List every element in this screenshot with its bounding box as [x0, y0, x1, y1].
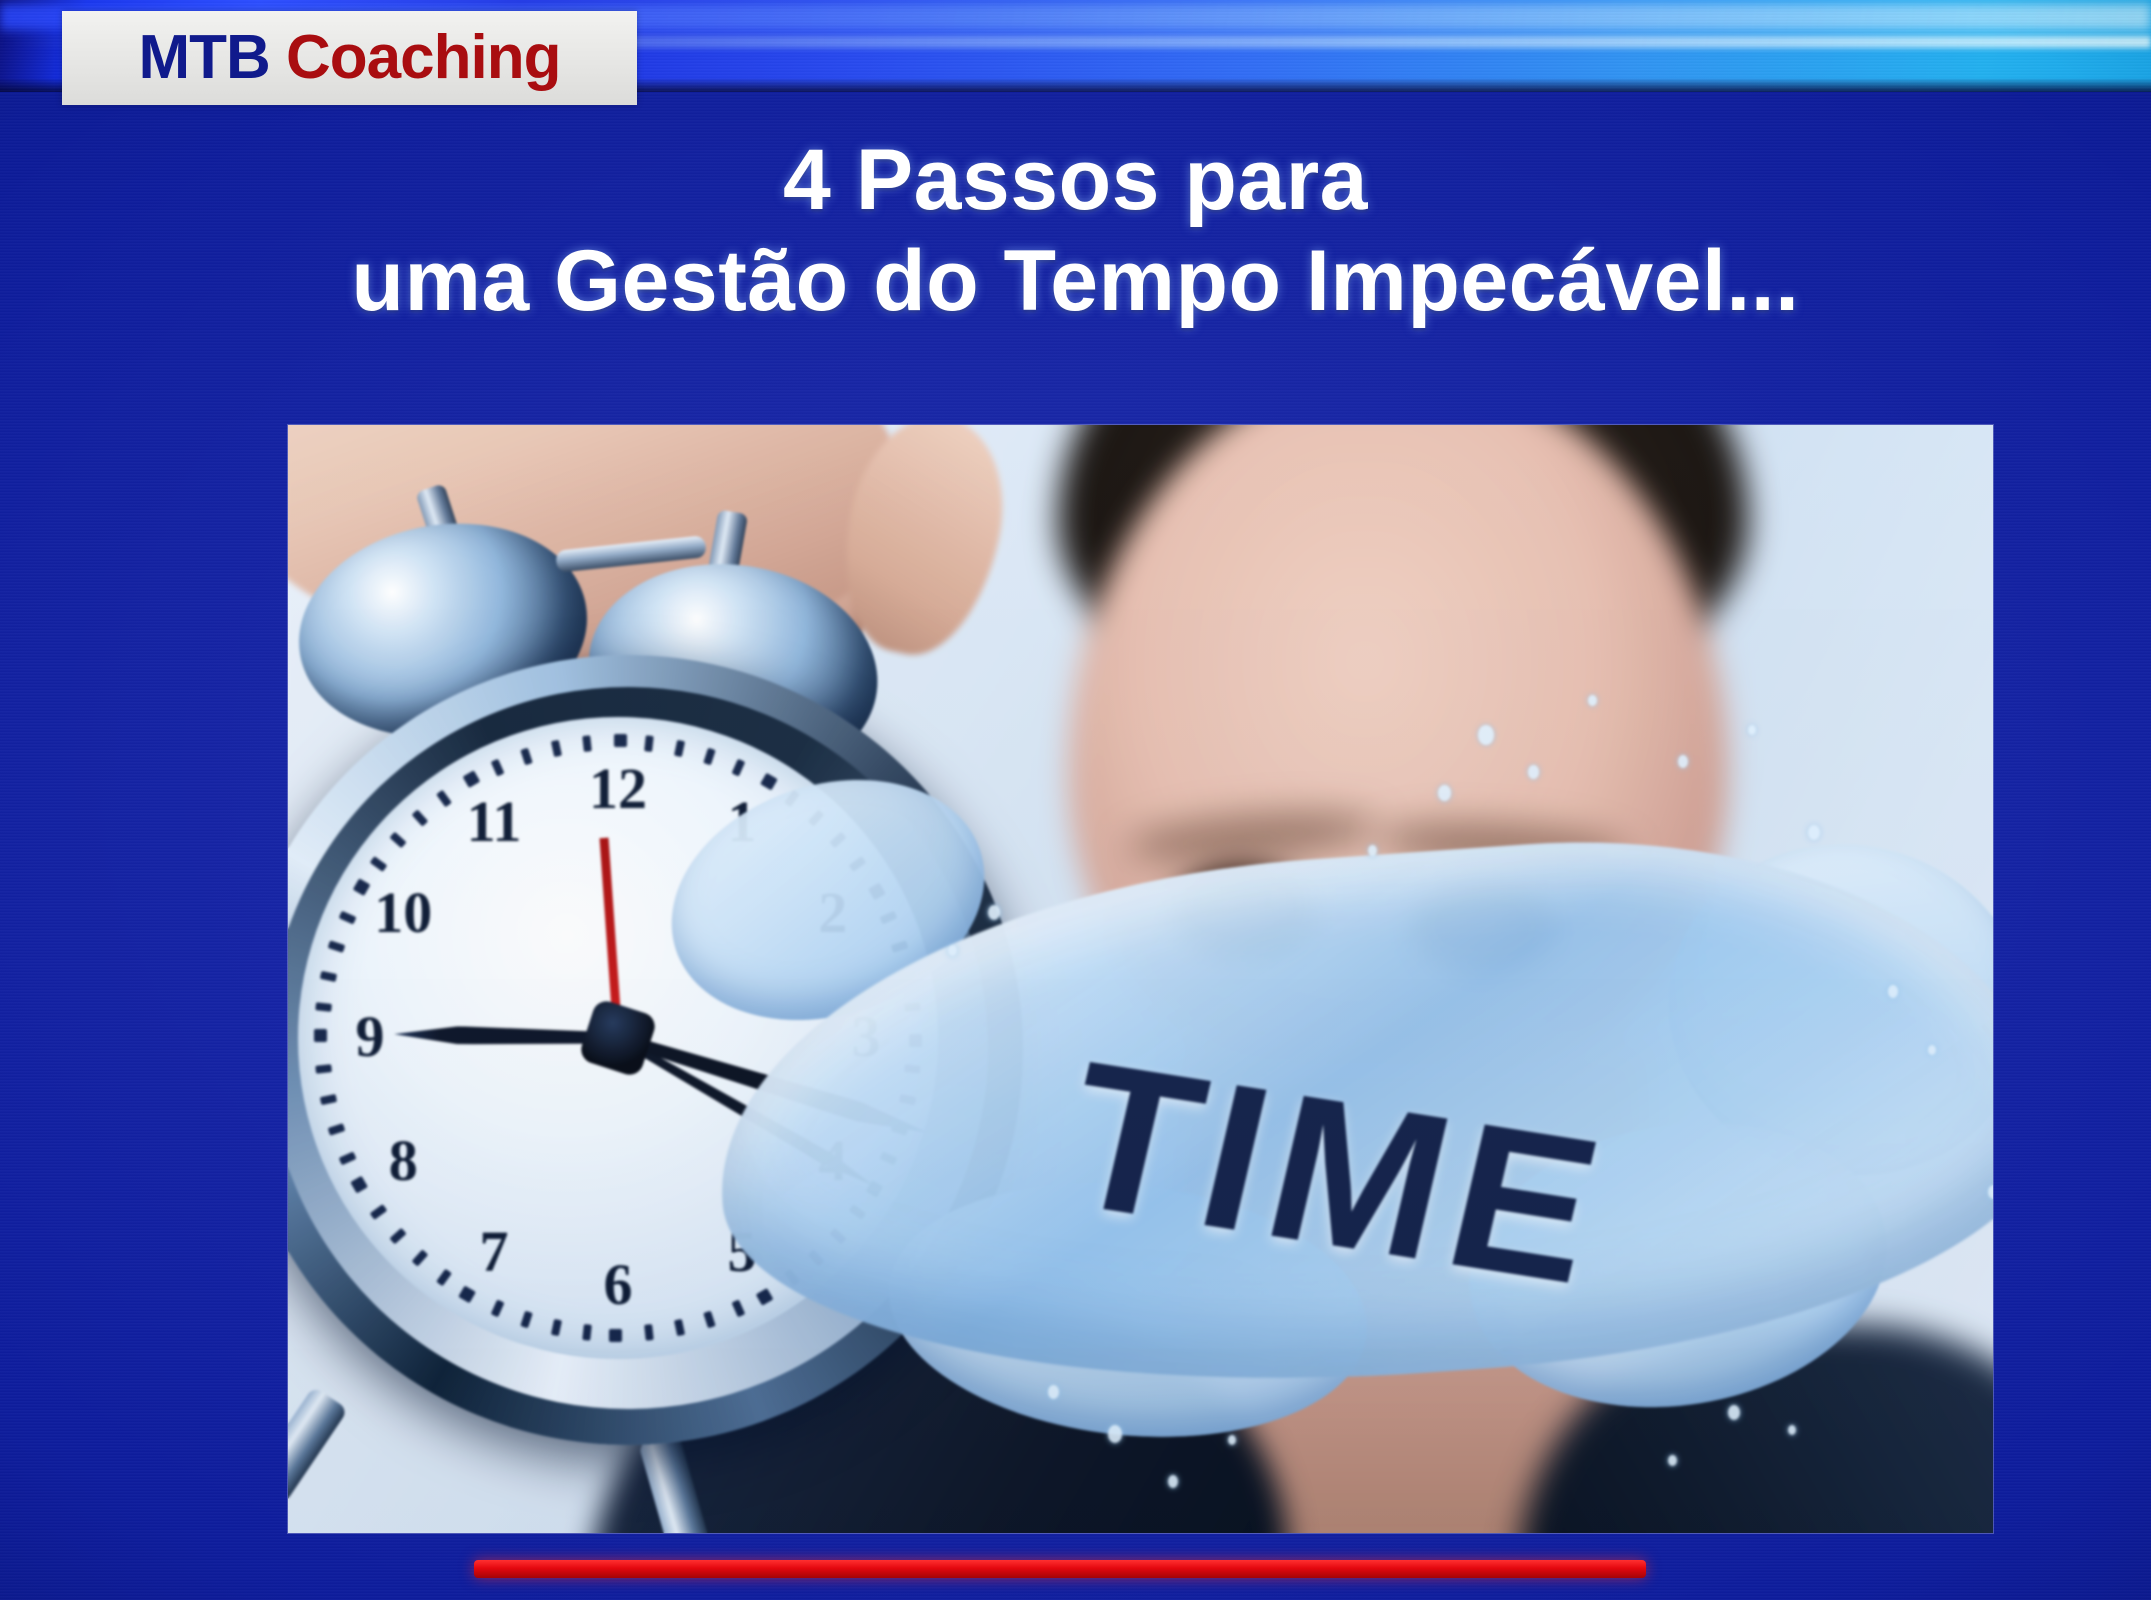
brand-secondary-text: Coaching: [286, 23, 560, 92]
page-title: 4 Passos para uma Gestão do Tempo Impecá…: [0, 130, 2151, 333]
brand-logo-text: MTB Coaching: [139, 27, 561, 89]
brand-logo: MTB Coaching: [62, 11, 637, 105]
slide-image: 123456789101112 TIME: [288, 425, 1993, 1533]
title-line-2: uma Gestão do Tempo Impecável...: [0, 231, 2151, 332]
presentation-slide: MTB Coaching 4 Passos para uma Gestão do…: [0, 0, 2151, 1600]
red-underline-bar: [474, 1560, 1646, 1578]
photo-focus-softener: [288, 425, 1993, 1533]
brand-primary-text: MTB: [139, 23, 270, 92]
title-line-1: 4 Passos para: [0, 130, 2151, 231]
